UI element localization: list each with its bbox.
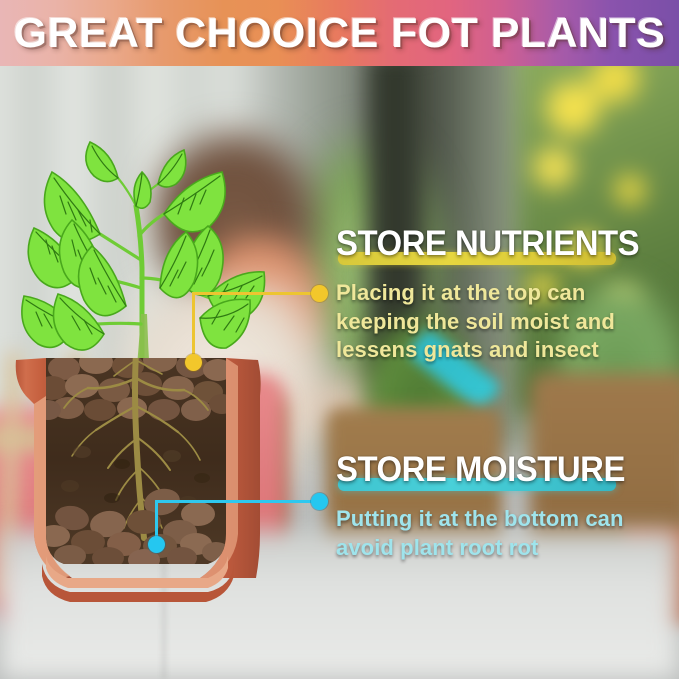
callout-store-nutrients: STORE NUTRIENTS Placing it at the top ca… <box>336 226 672 365</box>
callout-body-text: Placing it at the top can keeping the so… <box>336 279 672 365</box>
headline-text: STORE NUTRIENTS <box>336 224 639 263</box>
callout-store-moisture: STORE MOISTURE Putting it at the bottom … <box>336 452 672 562</box>
callout-body-text: Putting it at the bottom can avoid plant… <box>336 505 672 562</box>
product-infographic: GREAT CHOOICE FOT PLANTS .lf { fill:#7fe… <box>0 0 679 679</box>
pot-contents <box>35 352 235 571</box>
headline-text: STORE MOISTURE <box>336 450 625 489</box>
pot-cross-section <box>12 352 264 604</box>
title-banner: GREAT CHOOICE FOT PLANTS <box>0 0 679 66</box>
callout-headline-wrapper: STORE MOISTURE <box>336 452 652 487</box>
banner-title-text: GREAT CHOOICE FOT PLANTS <box>5 9 673 57</box>
callout-headline-wrapper: STORE NUTRIENTS <box>336 226 652 261</box>
